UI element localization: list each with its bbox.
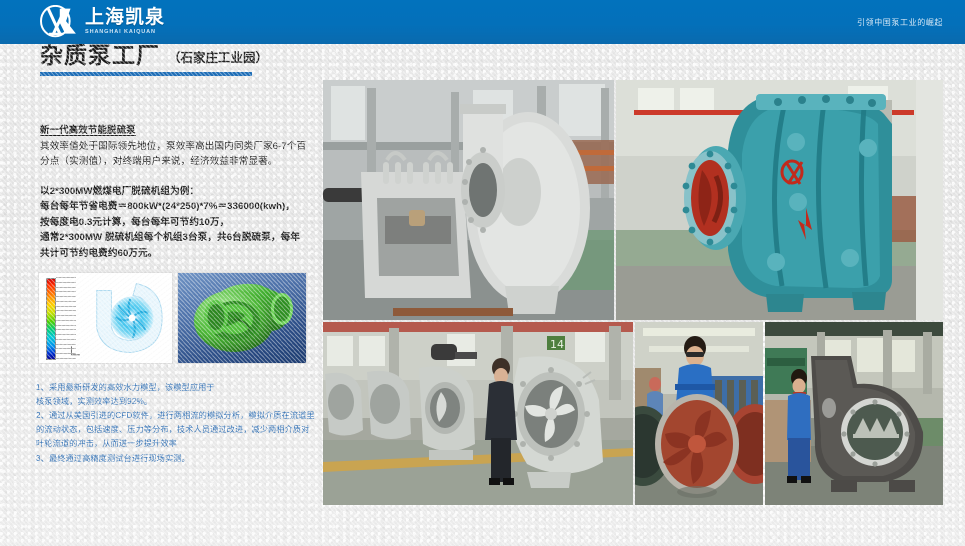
cfd-axis-triad-icon (69, 344, 81, 356)
note-2-line-1: 2、通过从美国引进的CFD软件，进行两相流的模拟分析，模拟介质在流道里 (36, 409, 320, 423)
photo-gallery: 14 (323, 80, 943, 505)
photo-blue-slurry-pump-image (616, 80, 943, 320)
cfd-figure-row (38, 272, 307, 364)
volute-3d-shape (178, 273, 306, 363)
page-header: 上海凯泉 SHANGHAI KAIQUAN 引领中国泵工业的崛起 (0, 0, 965, 44)
example-line-3: 通常2*300MW 脱硫机组每个机组3台泵，共6台脱硫泵，每年 (40, 230, 312, 246)
slide-root: 上海凯泉 SHANGHAI KAIQUAN 引领中国泵工业的崛起 杂质泵工厂 （… (0, 0, 965, 546)
photo-blue-slurry-pump (616, 80, 943, 320)
note-1-line-1: 1、采用最新研发的高效水力模型，该模型应用于 (36, 381, 320, 395)
header-slogan: 引领中国泵工业的崛起 (857, 0, 943, 44)
green-volute-3d-model-icon (177, 272, 307, 364)
example-line-2: 按每度电0.3元计算，每台每年可节约10万， (40, 215, 312, 231)
example-line-4: 共计可节约电费约60万元。 (40, 246, 312, 262)
page-title-main: 杂质泵工厂 (40, 44, 160, 68)
brand-logo-text: 上海凯泉 SHANGHAI KAIQUAN (85, 8, 165, 36)
brand-name-cn: 上海凯泉 (85, 8, 165, 27)
title-underline-rule (40, 72, 252, 76)
brand-name-en: SHANGHAI KAIQUAN (85, 30, 156, 36)
photo-red-impellers (635, 322, 763, 505)
example-lead: 以2*300MW燃煤电厂脱硫机组为例： (40, 184, 312, 200)
photo-pump-casing-row-image: 14 (323, 322, 633, 505)
kaiquan-kx-monogram-icon (38, 5, 78, 39)
note-3: 3、最终通过高精度测试台进行现场实测。 (36, 452, 320, 466)
example-line-1: 每台每年节省电费＝800kW*(24*250)*7%＝336000(kwh)， (40, 199, 312, 215)
technical-notes-list: 1、采用最新研发的高效水力模型，该模型应用于 核泵领域，实测效率达到92%。 2… (36, 381, 320, 466)
intro-text-block: 新一代高效节能脱硫泵 其效率值处于国际领先地位，泵效率高出国内同类厂家6-7个百… (40, 122, 312, 261)
example-calculation-block: 以2*300MW燃煤电厂脱硫机组为例： 每台每年节省电费＝800kW*(24*2… (40, 184, 312, 262)
note-1-line-2: 核泵领域，实测效率达到92%。 (36, 395, 320, 409)
photo-pump-casing-row: 14 (323, 322, 633, 505)
note-2-line-3: 叶轮流道的冲击，从而进一步提升效率 (36, 437, 320, 451)
photo-red-impellers-image (635, 322, 763, 505)
page-title-sub: （石家庄工业园） (168, 47, 268, 68)
intro-paragraph: 其效率值处于国际领先地位，泵效率高出国内同类厂家6-7个百分点（实测值），对终端… (40, 140, 312, 170)
photo-large-casing-worker-image (765, 322, 943, 505)
page-title: 杂质泵工厂 （石家庄工业园） (40, 44, 268, 76)
cfd-colorbar-icon (46, 278, 56, 360)
volute-contour-icon (83, 275, 169, 361)
note-2-line-2: 的流动状态，包括速度、压力等分布，技术人员通过改进，减少两相介质对 (36, 423, 320, 437)
photo-grey-pump-assembly-image (323, 80, 614, 320)
photo-grey-pump-assembly (323, 80, 614, 320)
photo-large-casing-worker (765, 322, 943, 505)
cfd-contour-plot-icon (38, 272, 173, 364)
svg-text:14: 14 (550, 338, 564, 351)
brand-logo[interactable]: 上海凯泉 SHANGHAI KAIQUAN (38, 5, 165, 39)
intro-heading: 新一代高效节能脱硫泵 (40, 122, 312, 136)
